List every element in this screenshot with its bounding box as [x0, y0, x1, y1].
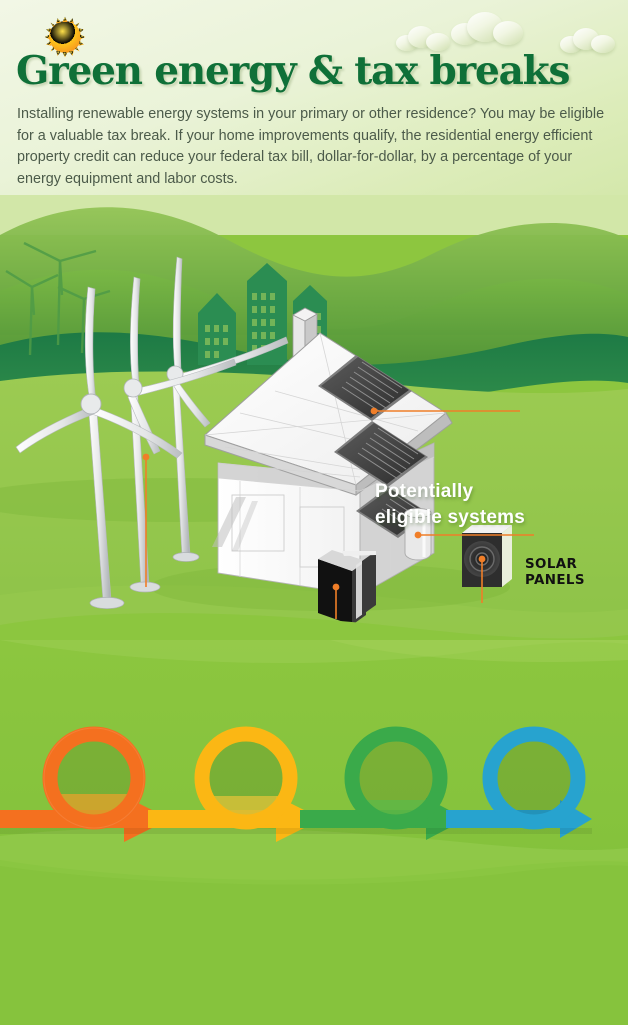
- page-title: Green energy & tax breaks: [16, 48, 569, 94]
- header-section: Green energy & tax breaks Installing ren…: [0, 0, 628, 215]
- callout-text: PANELS: [525, 573, 585, 588]
- scene-illustration: [0, 195, 628, 660]
- cloud-icon: [451, 12, 523, 48]
- percent-ring: [488, 734, 580, 826]
- callout-text: SOLAR: [525, 557, 577, 572]
- infographic-root: Green energy & tax breaks Installing ren…: [0, 0, 628, 1025]
- rings-graphic: [0, 640, 628, 865]
- footer-section: Lifetime dollar limit None! Other limits…: [0, 860, 628, 1025]
- callout-label-solar-panels: SOLAR PANELS: [525, 557, 585, 589]
- illustration-section: Potentially eligible systems SOLAR PANEL…: [0, 195, 628, 660]
- intro-paragraph: Installing renewable energy systems in y…: [17, 104, 613, 190]
- credit-percentage-chart: Placed in service 2019 2020 2021 After 2…: [0, 640, 628, 865]
- eligible-systems-heading: Potentially eligible systems: [375, 479, 525, 531]
- heading-line-1: Potentially: [375, 481, 473, 502]
- footer-background: [0, 860, 628, 1025]
- heading-line-2: eligible systems: [375, 507, 525, 528]
